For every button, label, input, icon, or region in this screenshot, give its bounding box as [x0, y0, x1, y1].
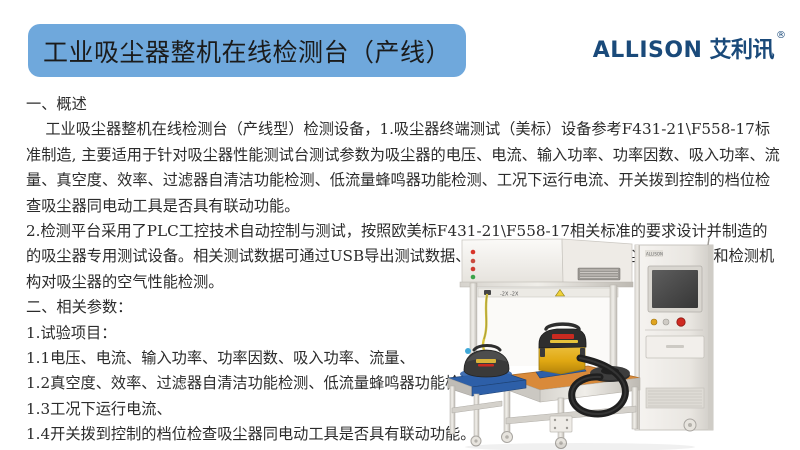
indicator-lamp-red-3	[471, 267, 476, 272]
page-title: 工业吸尘器整机在线检测台（产线）	[43, 33, 451, 69]
indicator-lamp-red-1	[471, 250, 476, 255]
control-tower: ALLISON	[635, 238, 713, 431]
canopy-enclosure	[460, 239, 633, 287]
socket-rail: -2X -2X	[478, 288, 618, 298]
svg-text:-2X -2X: -2X -2X	[500, 292, 519, 298]
paragraph-overview: 工业吸尘器整机在线检测台（产线型）检测设备，1.吸尘器终端测试（美标）设备参考F…	[26, 117, 780, 219]
logo-latin-text: ALLISON	[593, 40, 703, 62]
test-bench-photo: -2X -2X ALLISON	[440, 238, 798, 450]
indicator-lamp-green	[471, 275, 476, 280]
brand-logo: ALLISON 艾利讯 ®	[593, 40, 786, 62]
touchscreen-display	[652, 270, 698, 308]
registered-trademark-icon: ®	[776, 31, 786, 41]
slide-canvas: 工业吸尘器整机在线检测台（产线） ALLISON 艾利讯 ® 一、概述 工业吸尘…	[0, 0, 800, 450]
section-one-heading: 一、概述	[26, 92, 780, 117]
svg-text:ALLISON: ALLISON	[646, 252, 663, 257]
button-amber	[651, 319, 657, 325]
indicator-lamp-red-2	[471, 259, 476, 264]
emergency-stop-button	[677, 318, 685, 326]
button-grey	[663, 319, 669, 325]
slide-title-bar: 工业吸尘器整机在线检测台（产线）	[28, 24, 466, 77]
logo-cjk-text: 艾利讯	[709, 40, 774, 62]
aux-table	[448, 372, 526, 446]
